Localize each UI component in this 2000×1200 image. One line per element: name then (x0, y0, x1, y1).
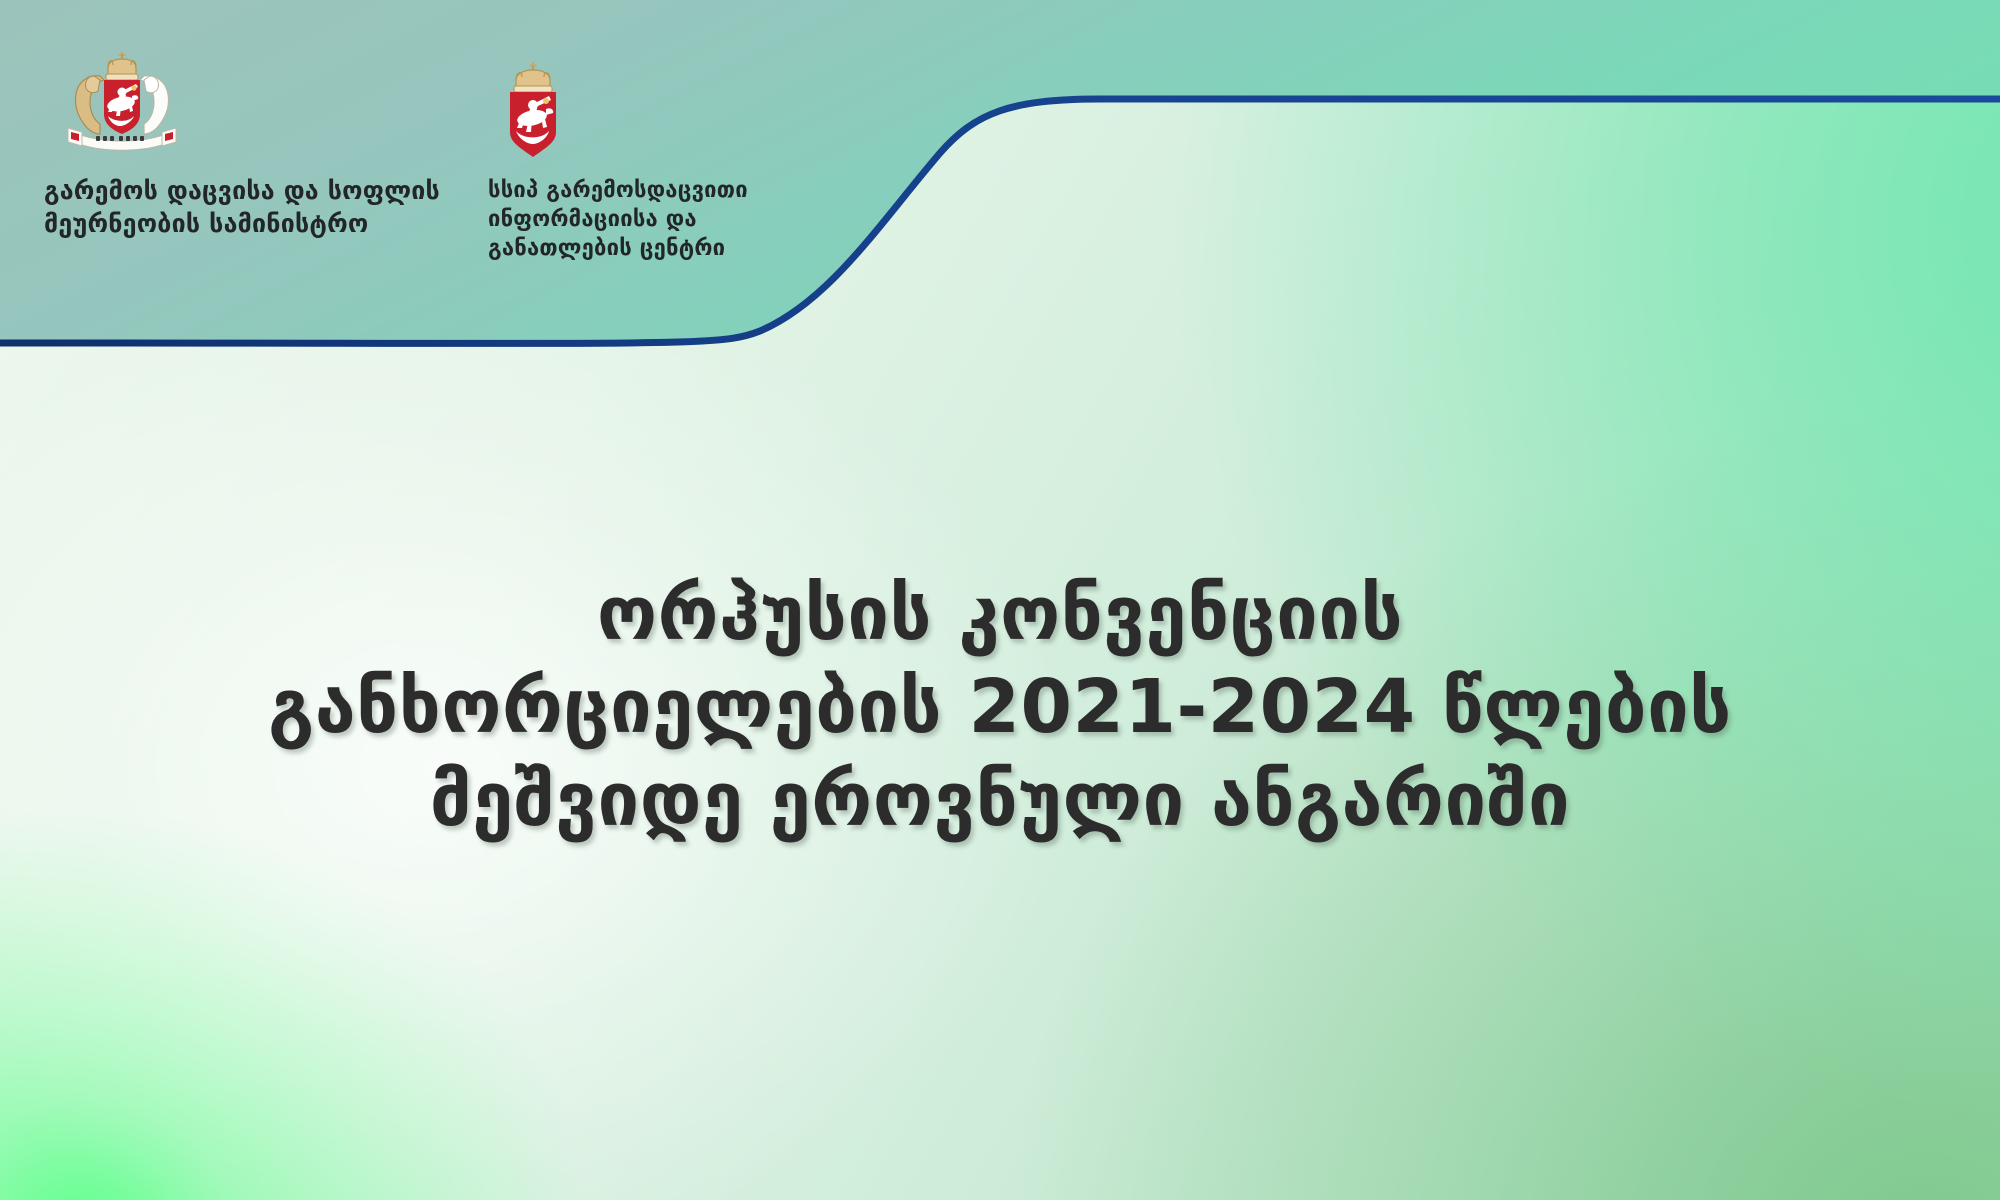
georgia-small-coat-of-arms-icon (496, 60, 570, 164)
report-cover-page: გარემოს დაცვისა და სოფლის მეურნეობის სამ… (0, 0, 2000, 1200)
logo-ministry: გარემოს დაცვისა და სოფლის მეურნეობის სამ… (44, 46, 464, 240)
logo-center: სსიპ გარემოსდაცვითი ინფორმაციისა და განა… (488, 60, 818, 263)
georgia-national-coat-of-arms-icon (60, 46, 184, 162)
logo-ministry-label: გარემოს დაცვისა და სოფლის მეურნეობის სამ… (44, 174, 440, 240)
page-title: ორჰუსის კონვენციის განხორციელების 2021-2… (0, 568, 2000, 848)
logo-center-label: სსიპ გარემოსდაცვითი ინფორმაციისა და განა… (488, 176, 748, 263)
